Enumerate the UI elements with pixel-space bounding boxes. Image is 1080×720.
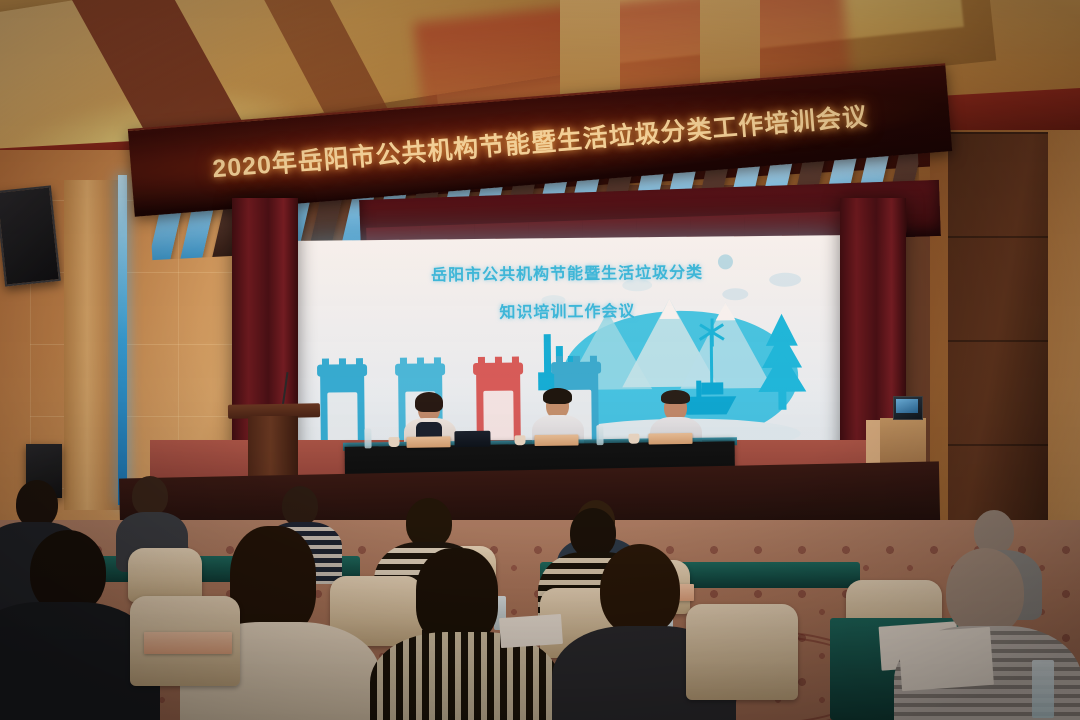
tea-cup	[514, 435, 525, 445]
name-card	[406, 436, 450, 448]
chair-back	[686, 604, 798, 700]
av-monitor-screen	[896, 399, 918, 413]
tea-cup	[388, 437, 399, 447]
conference-photo-scene: 2020年岳阳市公共机构节能暨生活垃圾分类工作培训会议	[0, 0, 1080, 720]
water-bottle	[1032, 660, 1054, 718]
tea-cup	[628, 434, 639, 444]
wall-pillar-left	[64, 180, 122, 510]
water-bottle	[596, 425, 603, 445]
water-bottle	[364, 428, 371, 448]
handout-paper	[499, 614, 563, 648]
laptop-icon	[454, 431, 490, 448]
chair-back	[128, 548, 202, 602]
led-strip-left	[118, 175, 127, 505]
name-placard	[144, 632, 232, 654]
wall-column-right-seams	[948, 132, 1048, 532]
name-card	[648, 433, 692, 445]
wall-monitor-icon	[0, 185, 61, 286]
handout-paper	[898, 627, 994, 691]
name-card	[534, 434, 578, 446]
